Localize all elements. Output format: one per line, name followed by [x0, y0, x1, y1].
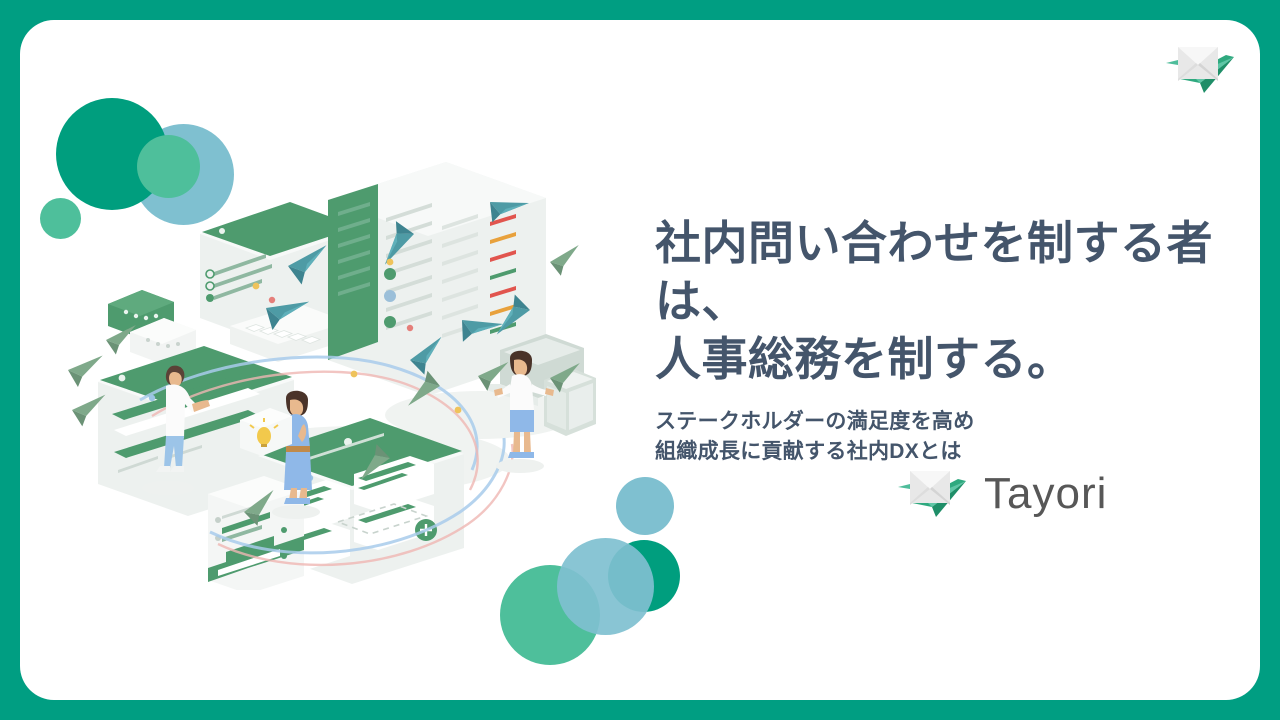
slide-root: 社内問い合わせを制する者は、 人事総務を制する。 ステークホルダーの満足度を高め…	[0, 0, 1280, 720]
text-block: 社内問い合わせを制する者は、 人事総務を制する。 ステークホルダーの満足度を高め…	[655, 215, 1255, 468]
envelope-paper-plane-icon	[896, 463, 970, 524]
page-subtitle: ステークホルダーの満足度を高め 組織成長に貢献する社内DXとは	[655, 407, 1255, 468]
brand-logo-lockup: Tayori	[896, 463, 1107, 524]
corner-logo-icon	[1164, 38, 1238, 96]
isometric-illustration	[60, 160, 640, 590]
brand-wordmark: Tayori	[984, 472, 1107, 516]
slide-card: 社内問い合わせを制する者は、 人事総務を制する。 ステークホルダーの満足度を高め…	[20, 20, 1260, 700]
page-title: 社内問い合わせを制する者は、 人事総務を制する。	[655, 215, 1255, 389]
